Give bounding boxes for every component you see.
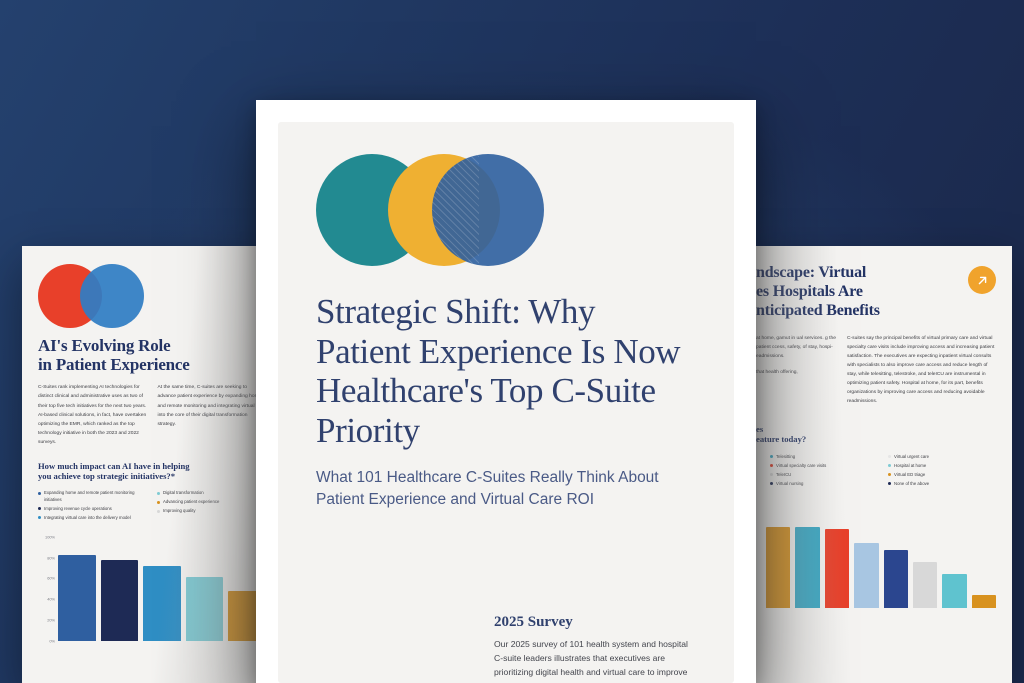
report-cover-scene: AI's Evolving Role in Patient Experience… (0, 0, 1024, 683)
cover-title: Strategic Shift: Why Patient Experience … (316, 292, 696, 450)
left-chart-section: How much impact can AI have in helping y… (38, 461, 266, 641)
right-report-card[interactable]: ndscape: Virtual es Hospitals Are nticip… (744, 246, 1012, 683)
legend-item: Improving revenue cycle operations (38, 506, 147, 512)
legend-label: Improving quality (163, 508, 195, 514)
legend-dot-icon (888, 473, 891, 476)
left-title-line-1: AI's Evolving Role (38, 336, 266, 355)
legend-dot-icon (888, 482, 891, 485)
legend-dot-icon (888, 455, 891, 458)
legend-dot-icon (157, 492, 160, 495)
legend-label: Virtual specialty care visits (776, 463, 826, 469)
legend-dot-icon (770, 464, 773, 467)
left-body-paragraph-1: C-Suites rank implementing AI technologi… (38, 383, 147, 446)
legend-label: None of the above (894, 481, 929, 487)
chart-bar (143, 566, 181, 641)
survey-heading: 2025 Survey (494, 614, 696, 631)
right-chart-bars (766, 516, 996, 608)
left-bar-chart: 100%80%60%40%20%0% (38, 537, 266, 641)
legend-item: Improving quality (157, 508, 266, 514)
center-cover-page: Strategic Shift: Why Patient Experience … (278, 122, 734, 683)
right-chart-legend: Telesitting Virtual specialty care visit… (756, 454, 996, 490)
open-link-button[interactable] (968, 266, 996, 294)
legend-item: Hospital at home (888, 463, 996, 469)
legend-label: Expanding home and remote patient monito… (44, 490, 147, 503)
right-report-header: ndscape: Virtual es Hospitals Are nticip… (756, 264, 996, 321)
legend-label: Virtual urgent care (894, 454, 929, 460)
right-body-column-1: at home, gamut in ual services. g the pa… (756, 334, 836, 407)
legend-item: Virtual urgent care (888, 454, 996, 460)
right-body-paragraph-3: C-suites say the principal benefits of v… (847, 334, 996, 407)
right-title-line-3: nticipated Benefits (756, 302, 960, 321)
legend-label: Telesitting (776, 454, 795, 460)
right-report-title: ndscape: Virtual es Hospitals Are nticip… (756, 264, 960, 321)
legend-dot-icon (38, 492, 41, 495)
right-body-column-2: C-suites say the principal benefits of v… (847, 334, 996, 407)
left-venn-logo (38, 264, 166, 328)
y-axis-tick-label: 80% (47, 555, 55, 560)
legend-dot-icon (157, 510, 160, 513)
legend-item: Telesitting (770, 454, 878, 460)
right-body-paragraph-1: at home, gamut in ual services. g the pa… (756, 334, 836, 361)
y-axis-tick-label: 0% (49, 638, 55, 643)
right-body-columns: at home, gamut in ual services. g the pa… (756, 334, 996, 407)
left-chart-question-line-2: you achieve top strategic initiatives?* (38, 471, 266, 481)
chart-bar (795, 527, 819, 608)
right-title-line-2: es Hospitals Are (756, 283, 960, 302)
y-axis-tick-label: 60% (47, 576, 55, 581)
chart-bar (825, 529, 849, 607)
right-body-paragraph-2: that health offering, (756, 368, 836, 377)
left-title-line-2: in Patient Experience (38, 355, 266, 374)
legend-item: Integrating virtual care into the delive… (38, 515, 147, 521)
left-report-page: AI's Evolving Role in Patient Experience… (22, 246, 280, 683)
legend-label: Integrating virtual care into the delive… (44, 515, 131, 521)
chart-bar (942, 574, 966, 607)
legend-label: Advancing patient experience (163, 499, 219, 505)
legend-dot-icon (888, 464, 891, 467)
chart-bar (766, 527, 790, 608)
left-chart-question: How much impact can AI have in helping y… (38, 461, 266, 482)
left-body-column-2: At the same time, C-suites are seeking t… (158, 383, 267, 446)
legend-item: None of the above (888, 481, 996, 487)
right-chart-question-line-2: eature today? (756, 434, 996, 444)
survey-section: 2025 Survey Our 2025 survey of 101 healt… (494, 614, 696, 683)
chart-bar (186, 577, 224, 640)
right-chart-question-line-1: es (756, 424, 996, 434)
right-title-line-1: ndscape: Virtual (756, 264, 960, 283)
legend-item: Virtual nursing (770, 481, 878, 487)
legend-item: Advancing patient experience (157, 499, 266, 505)
legend-label: Virtual nursing (776, 481, 803, 487)
legend-dot-icon (38, 516, 41, 519)
arrow-up-right-icon (976, 274, 989, 287)
legend-dot-icon (770, 473, 773, 476)
right-bar-chart (756, 516, 996, 608)
legend-label: Digital transformation (163, 490, 204, 496)
venn-circle-blue (432, 154, 544, 266)
left-body-columns: C-Suites rank implementing AI technologi… (38, 383, 266, 446)
right-legend-column-2: Virtual urgent care Hospital at home Vir… (888, 454, 996, 490)
right-chart-question: es eature today? (756, 424, 996, 445)
left-report-card[interactable]: AI's Evolving Role in Patient Experience… (22, 246, 280, 683)
right-legend-column-1: Telesitting Virtual specialty care visit… (770, 454, 878, 490)
legend-label: Hospital at home (894, 463, 926, 469)
left-chart-bars (58, 537, 266, 641)
legend-dot-icon (770, 482, 773, 485)
legend-label: TeleICU (776, 472, 791, 478)
survey-body: Our 2025 survey of 101 health system and… (494, 638, 696, 683)
legend-dot-icon (770, 455, 773, 458)
y-axis-tick-label: 40% (47, 597, 55, 602)
venn-circle-blue (80, 264, 144, 328)
chart-bar (884, 550, 908, 607)
legend-item: Expanding home and remote patient monito… (38, 490, 147, 503)
chart-bar (913, 562, 937, 608)
left-body-paragraph-2: At the same time, C-suites are seeking t… (158, 383, 267, 428)
left-chart-question-line-1: How much impact can AI have in helping (38, 461, 266, 471)
left-body-column-1: C-Suites rank implementing AI technologi… (38, 383, 147, 446)
legend-item: Virtual ED triage (888, 472, 996, 478)
right-report-page: ndscape: Virtual es Hospitals Are nticip… (744, 246, 1012, 683)
y-axis-tick-label: 20% (47, 617, 55, 622)
left-chart-legend: Expanding home and remote patient monito… (38, 490, 266, 523)
left-legend-column-2: Digital transformation Advancing patient… (157, 490, 266, 523)
legend-item: Virtual specialty care visits (770, 463, 878, 469)
y-axis-tick-label: 100% (45, 534, 55, 539)
legend-label: Improving revenue cycle operations (44, 506, 112, 512)
left-chart-y-axis: 100%80%60%40%20%0% (38, 537, 57, 641)
legend-label: Virtual ED triage (894, 472, 925, 478)
chart-bar (972, 595, 996, 608)
chart-bar (101, 560, 139, 641)
legend-item: Digital transformation (157, 490, 266, 496)
cover-subtitle: What 101 Healthcare C-Suites Really Thin… (316, 467, 696, 511)
center-report-cover[interactable]: Strategic Shift: Why Patient Experience … (256, 100, 756, 683)
legend-dot-icon (38, 507, 41, 510)
left-legend-column-1: Expanding home and remote patient monito… (38, 490, 147, 523)
legend-item: TeleICU (770, 472, 878, 478)
chart-bar (854, 543, 878, 607)
right-chart-section: es eature today? Telesitting Virtual spe… (756, 424, 996, 607)
center-venn-logo (316, 154, 544, 266)
left-report-title: AI's Evolving Role in Patient Experience (38, 336, 266, 374)
legend-dot-icon (157, 501, 160, 504)
chart-bar (58, 555, 96, 640)
